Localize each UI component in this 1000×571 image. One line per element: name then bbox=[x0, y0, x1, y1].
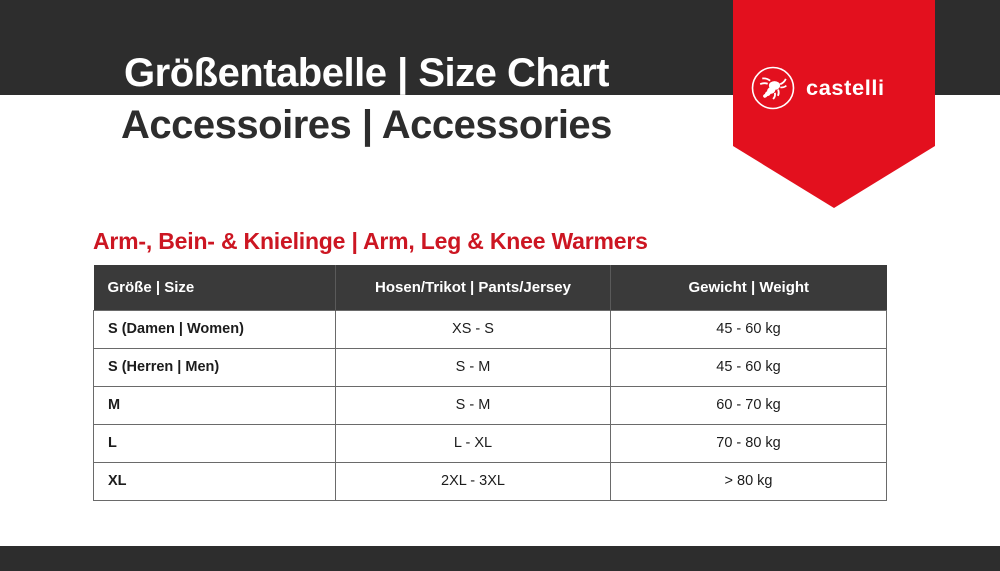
section-heading: Arm-, Bein- & Knielinge | Arm, Leg & Kne… bbox=[93, 228, 648, 255]
svg-text:castelli: castelli bbox=[806, 77, 885, 100]
bottom-dark-band bbox=[0, 546, 1000, 571]
brand-wordmark: castelli bbox=[806, 77, 928, 100]
table-body: S (Damen | Women) XS - S 45 - 60 kg S (H… bbox=[94, 310, 887, 500]
cell-weight: 60 - 70 kg bbox=[611, 386, 887, 424]
cell-weight: 45 - 60 kg bbox=[611, 348, 887, 386]
scorpion-in-circle-icon bbox=[750, 65, 796, 111]
cell-fit: XS - S bbox=[336, 310, 611, 348]
title-line-secondary: Accessoires | Accessories bbox=[0, 98, 733, 152]
table-header-row: Größe | Size Hosen/Trikot | Pants/Jersey… bbox=[94, 265, 887, 310]
column-header-size: Größe | Size bbox=[94, 265, 336, 310]
brand-banner: castelli bbox=[733, 0, 935, 208]
cell-size: S (Damen | Women) bbox=[94, 310, 336, 348]
cell-size: M bbox=[94, 386, 336, 424]
column-header-fit: Hosen/Trikot | Pants/Jersey bbox=[336, 265, 611, 310]
cell-size: L bbox=[94, 424, 336, 462]
cell-fit: 2XL - 3XL bbox=[336, 462, 611, 500]
size-chart-table: Größe | Size Hosen/Trikot | Pants/Jersey… bbox=[93, 265, 887, 501]
table-row: XL 2XL - 3XL > 80 kg bbox=[94, 462, 887, 500]
table-header: Größe | Size Hosen/Trikot | Pants/Jersey… bbox=[94, 265, 887, 310]
cell-fit: S - M bbox=[336, 348, 611, 386]
column-header-weight: Gewicht | Weight bbox=[611, 265, 887, 310]
table-row: S (Herren | Men) S - M 45 - 60 kg bbox=[94, 348, 887, 386]
table-row: M S - M 60 - 70 kg bbox=[94, 386, 887, 424]
table-row: L L - XL 70 - 80 kg bbox=[94, 424, 887, 462]
cell-weight: 45 - 60 kg bbox=[611, 310, 887, 348]
cell-size: S (Herren | Men) bbox=[94, 348, 336, 386]
cell-fit: L - XL bbox=[336, 424, 611, 462]
cell-weight: 70 - 80 kg bbox=[611, 424, 887, 462]
size-chart-page: Größentabelle | Size Chart Größentabelle… bbox=[0, 0, 1000, 571]
cell-weight: > 80 kg bbox=[611, 462, 887, 500]
brand-logo: castelli bbox=[733, 63, 935, 113]
cell-fit: S - M bbox=[336, 386, 611, 424]
cell-size: XL bbox=[94, 462, 336, 500]
table-row: S (Damen | Women) XS - S 45 - 60 kg bbox=[94, 310, 887, 348]
